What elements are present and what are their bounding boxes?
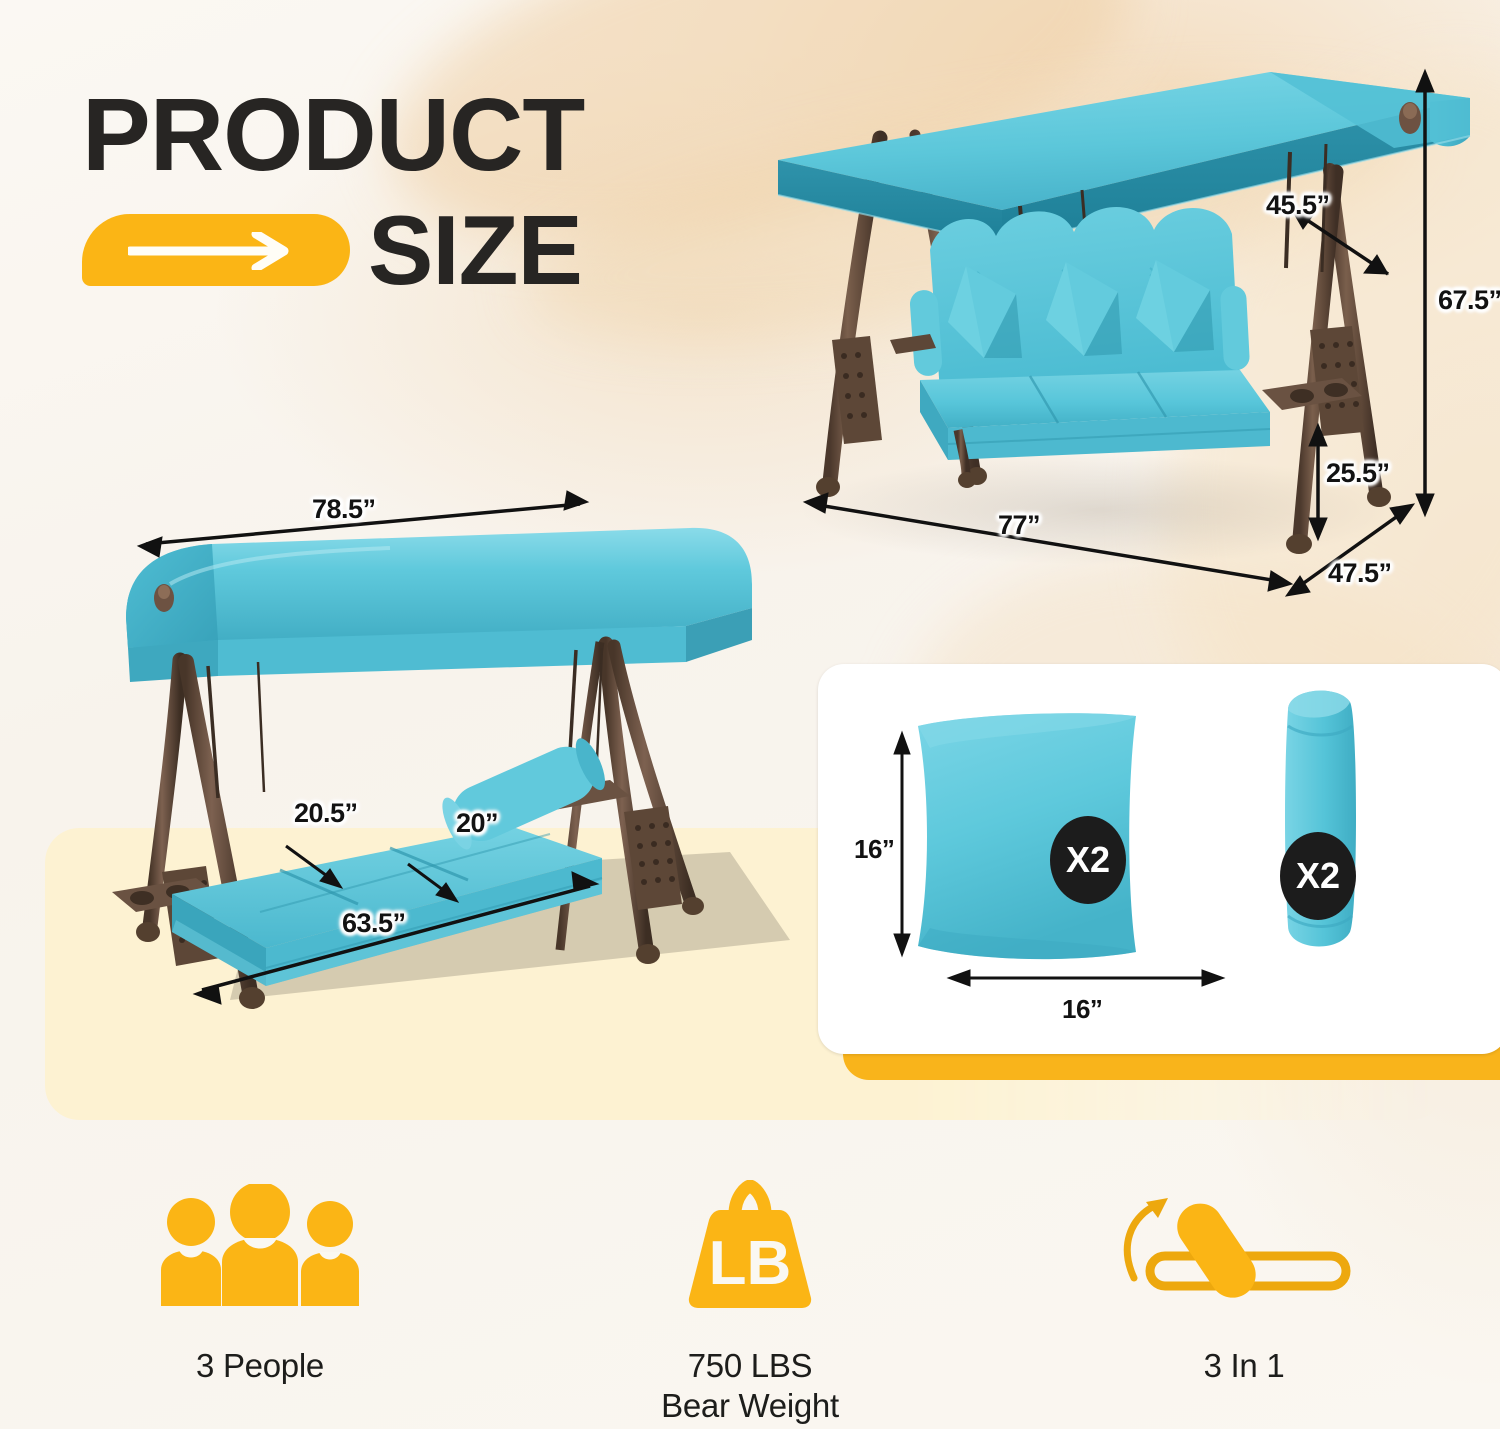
dimension-label-seat-height: 25.5” — [1326, 458, 1390, 489]
page-title-size: SIZE — [368, 205, 582, 295]
feature-weight-label: 750 LBS Bear Weight — [661, 1346, 839, 1427]
bolster-pillow-qty-badge: X2 — [1280, 832, 1356, 920]
feature-weight-line2: Bear Weight — [661, 1386, 839, 1426]
dimension-label-canopy-width: 78.5” — [312, 494, 376, 525]
swing-chair-seated-mode: 45.5” 67.5” 77” 47.5” 25.5” — [770, 40, 1500, 620]
feature-capacity: 3 People — [10, 1180, 510, 1420]
dimension-label-cushion-section-a: 20.5” — [294, 798, 358, 829]
dimension-label-bed-length: 63.5” — [342, 908, 406, 939]
pillow-width-label: 16” — [1062, 994, 1102, 1025]
page-title-block: PRODUCT SIZE — [82, 88, 722, 295]
feature-row: 3 People LB 750 LBS Bear Weight — [0, 1180, 1500, 1420]
feature-convertible-label: 3 In 1 — [1204, 1346, 1285, 1386]
pillow-set-card: X2 X2 16” 16” — [818, 664, 1500, 1054]
three-people-icon — [155, 1180, 365, 1310]
dimension-label-cushion-section-b: 20” — [456, 808, 498, 839]
dimension-label-overall-height: 67.5” — [1438, 285, 1500, 316]
feature-weight-line1: 750 LBS — [661, 1346, 839, 1386]
dimension-label-overall-depth: 47.5” — [1328, 558, 1392, 589]
right-arrow-icon — [82, 214, 350, 286]
pillow-height-label: 16” — [854, 834, 894, 865]
bolster-pillow-qty-label: X2 — [1296, 855, 1340, 897]
three-in-one-recline-icon — [1114, 1180, 1374, 1310]
square-pillow-qty-badge: X2 — [1050, 816, 1126, 904]
square-pillow-qty-label: X2 — [1066, 839, 1110, 881]
feature-weight: LB 750 LBS Bear Weight — [500, 1180, 1000, 1420]
weight-lb-icon: LB — [675, 1180, 825, 1310]
page-title-product: PRODUCT — [82, 88, 722, 183]
dimension-label-canopy-depth: 45.5” — [1266, 190, 1330, 221]
svg-text:LB: LB — [709, 1229, 792, 1298]
feature-convertible: 3 In 1 — [994, 1180, 1494, 1420]
swing-bed-flat-mode: 78.5” 20.5” 20” 63.5” — [90, 480, 810, 1100]
feature-capacity-label: 3 People — [196, 1346, 324, 1386]
dimension-label-overall-width: 77” — [998, 510, 1040, 541]
